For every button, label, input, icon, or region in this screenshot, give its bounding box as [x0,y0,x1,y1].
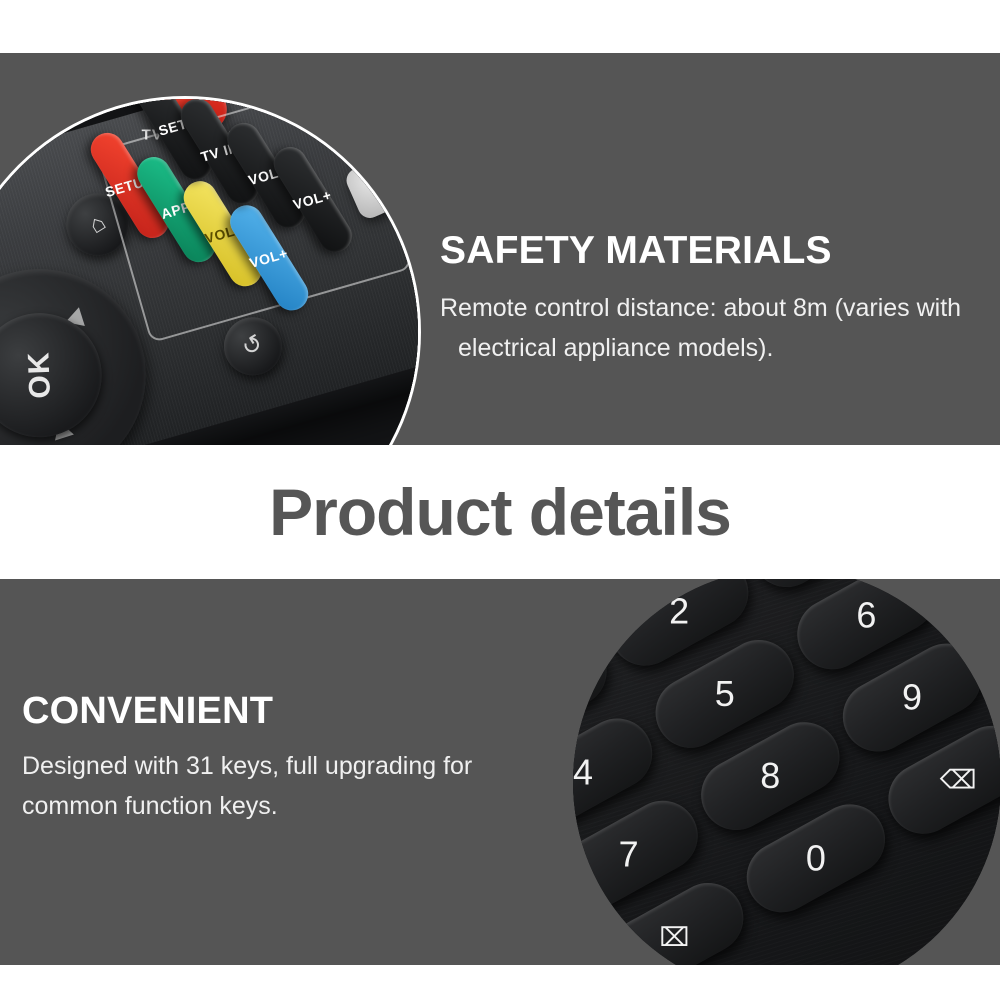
ok-button-label: OK [22,351,58,399]
back-icon: ↺ [238,331,268,362]
volume-up-key-label: VOL+ [248,245,290,271]
remote-keys-photo: OK ⌂ ↺ ♪ [0,99,418,445]
home-icon: ⌂ [85,210,110,238]
safety-materials-panel: OK ⌂ ↺ ♪ [0,53,1000,445]
keypad-plate: 1 2 3 4 5 6 7 8 9 ⌧ 0 ⌫ [573,579,1000,965]
key-2-label: 2 [669,591,689,633]
product-detail-page: OK ⌂ ↺ ♪ [0,0,1000,1000]
convenient-heading: CONVENIENT [22,692,512,732]
tv-volume-up-key-label: VOL+ [292,186,334,212]
ok-button[interactable]: OK [0,298,116,445]
numeric-keypad-photo: 1 2 3 4 5 6 7 8 9 ⌧ 0 ⌫ [573,579,1000,965]
keypad-photo-scene: 1 2 3 4 5 6 7 8 9 ⌧ 0 ⌫ [573,579,1000,965]
remote-photo-scene: OK ⌂ ↺ ♪ [0,99,418,445]
convenient-body-line-2: common function keys. [22,786,512,827]
page-title: Product details [269,479,731,545]
key-0-label: 0 [806,837,826,879]
delete-icon: ⌫ [939,764,976,795]
safety-materials-body-line-1: Remote control distance: about 8m (varie… [440,288,985,329]
key-6-label: 6 [856,594,876,636]
convenient-text: CONVENIENT Designed with 31 keys, full u… [22,692,512,827]
key-4-label: 4 [573,751,593,793]
key-7-label: 7 [619,834,639,876]
convenient-body-line-1: Designed with 31 keys, full upgrading fo… [22,746,512,787]
remote-body: OK ⌂ ↺ ♪ [0,99,418,445]
product-details-band: Product details [0,445,1000,579]
top-panel-clip: OK ⌂ ↺ ♪ [0,53,1000,445]
bottom-panel-clip: 1 2 3 4 5 6 7 8 9 ⌧ 0 ⌫ [0,579,1000,965]
safety-materials-heading: SAFETY MATERIALS [440,231,985,272]
convenient-panel: 1 2 3 4 5 6 7 8 9 ⌧ 0 ⌫ [0,579,1000,965]
safety-materials-text: SAFETY MATERIALS Remote control distance… [440,231,985,369]
key-5-label: 5 [715,673,735,715]
key-9-label: 9 [902,677,922,719]
mute-icon: ⌧ [659,921,689,952]
key-8-label: 8 [760,755,780,797]
safety-materials-body-line-2: electrical appliance models). [440,328,985,369]
